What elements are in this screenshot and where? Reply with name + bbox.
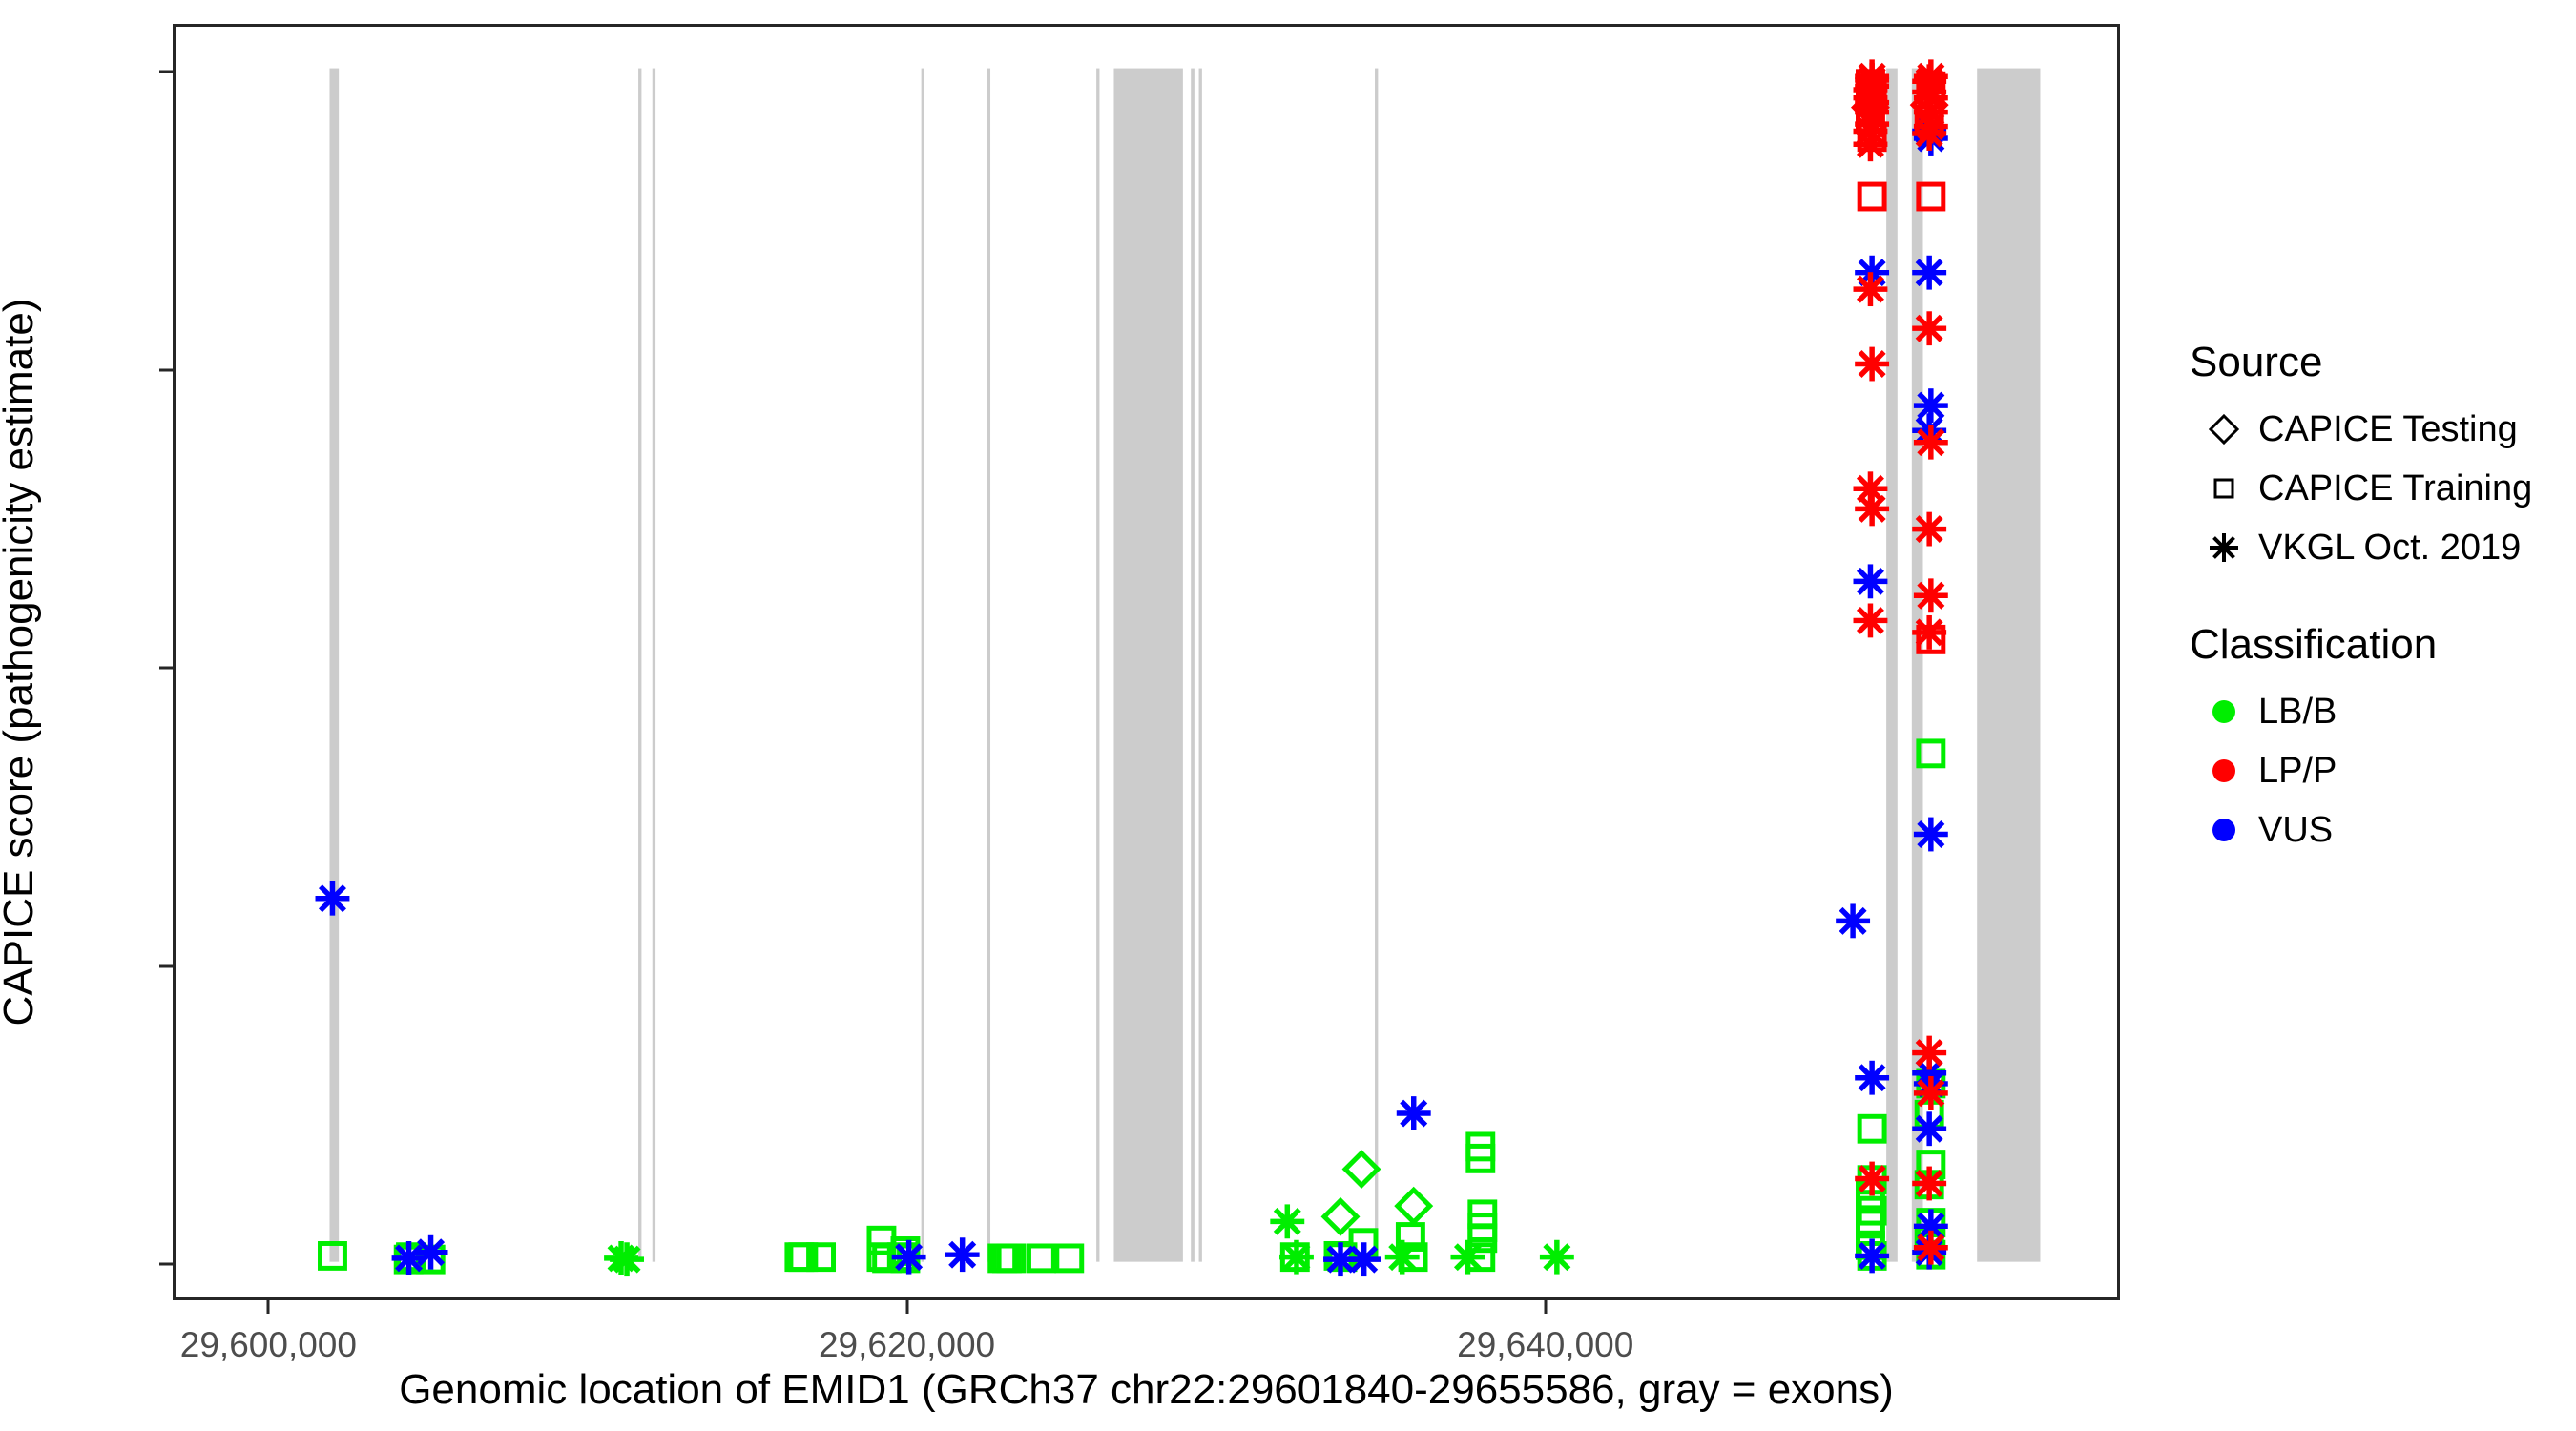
point-asterisk-icon xyxy=(414,1235,448,1270)
legend-item[interactable]: CAPICE Training xyxy=(2190,459,2562,518)
circle-icon xyxy=(2190,749,2258,793)
y-tick-mark xyxy=(159,71,173,73)
legend-title-classification: Classification xyxy=(2190,621,2562,669)
point-square-icon xyxy=(321,1243,345,1268)
y-tick-mark xyxy=(159,667,173,670)
legend-item[interactable]: CAPICE Testing xyxy=(2190,400,2562,459)
legend-title-source: Source xyxy=(2190,339,2562,386)
point-square-icon xyxy=(1919,184,1943,209)
legend-item-label: LP/P xyxy=(2258,751,2337,792)
legend-item[interactable]: LB/B xyxy=(2190,682,2562,741)
point-asterisk-icon xyxy=(1912,1036,1946,1070)
legend-item[interactable]: VUS xyxy=(2190,800,2562,860)
x-tick-label: 29,620,000 xyxy=(819,1325,995,1365)
point-asterisk-icon xyxy=(1912,256,1946,290)
point-asterisk-icon xyxy=(392,1241,426,1275)
chart-root: CAPICE score (pathogenicity estimate) 1.… xyxy=(0,0,2576,1431)
point-square-icon xyxy=(1859,184,1884,209)
y-tick-mark xyxy=(159,1263,173,1266)
y-axis-title: CAPICE score (pathogenicity estimate) xyxy=(0,0,46,1324)
point-square-icon xyxy=(1859,1116,1884,1141)
data-points xyxy=(176,27,2117,1297)
point-asterisk-icon xyxy=(1914,425,1948,460)
point-asterisk-icon xyxy=(945,1237,980,1272)
legend-item[interactable]: VKGL Oct. 2019 xyxy=(2190,518,2562,577)
y-tick-mark xyxy=(159,964,173,967)
legend-item-label: CAPICE Testing xyxy=(2258,409,2518,450)
point-asterisk-icon xyxy=(1347,1242,1381,1276)
point-asterisk-icon xyxy=(1397,1096,1431,1130)
point-asterisk-icon xyxy=(1914,578,1948,612)
point-asterisk-icon xyxy=(1855,1239,1889,1274)
point-asterisk-icon xyxy=(1914,818,1948,852)
legend-item-label: VUS xyxy=(2258,810,2333,851)
x-axis-title: Genomic location of EMID1 (GRCh37 chr22:… xyxy=(173,1366,2120,1414)
square-icon xyxy=(2190,467,2258,510)
plot-area xyxy=(176,27,2117,1297)
legend-group-classification: Classification LB/BLP/PVUS xyxy=(2190,621,2562,860)
point-asterisk-icon xyxy=(1854,564,1888,598)
y-tick-mark xyxy=(159,368,173,371)
point-square-icon xyxy=(1028,1246,1053,1271)
x-tick-label: 29,600,000 xyxy=(180,1325,357,1365)
x-tick-label: 29,640,000 xyxy=(1457,1325,1633,1365)
legend-item-label: VKGL Oct. 2019 xyxy=(2258,528,2521,569)
x-tick-mark xyxy=(267,1300,270,1314)
plot-panel xyxy=(173,24,2120,1300)
legend-item-label: CAPICE Training xyxy=(2258,468,2532,509)
legend-item-label: LB/B xyxy=(2258,692,2337,733)
point-asterisk-icon xyxy=(1270,1204,1304,1238)
point-square-icon xyxy=(1057,1246,1082,1271)
asterisk-icon xyxy=(2190,526,2258,570)
point-asterisk-icon xyxy=(1912,512,1946,547)
point-asterisk-icon xyxy=(1279,1240,1314,1275)
point-square-icon xyxy=(1919,741,1943,766)
legend: Source CAPICE TestingCAPICE TrainingVKGL… xyxy=(2190,339,2562,903)
point-asterisk-icon xyxy=(892,1240,926,1275)
point-asterisk-icon xyxy=(1855,1061,1889,1095)
point-asterisk-icon xyxy=(1912,311,1946,345)
legend-item[interactable]: LP/P xyxy=(2190,741,2562,800)
legend-items-classification: LB/BLP/PVUS xyxy=(2190,682,2562,860)
point-diamond-icon xyxy=(1324,1200,1357,1233)
diamond-icon xyxy=(2190,407,2258,451)
legend-group-source: Source CAPICE TestingCAPICE TrainingVKGL… xyxy=(2190,339,2562,577)
circle-icon xyxy=(2190,808,2258,852)
circle-icon xyxy=(2190,690,2258,734)
point-asterisk-icon xyxy=(1912,116,1946,151)
point-asterisk-icon xyxy=(610,1242,644,1276)
point-asterisk-icon xyxy=(316,881,350,916)
x-tick-mark xyxy=(905,1300,908,1314)
point-asterisk-icon xyxy=(1540,1240,1574,1275)
point-diamond-icon xyxy=(1345,1153,1378,1186)
legend-items-source: CAPICE TestingCAPICE TrainingVKGL Oct. 2… xyxy=(2190,400,2562,577)
point-diamond-icon xyxy=(1398,1190,1430,1222)
point-asterisk-icon xyxy=(1855,347,1889,382)
x-tick-mark xyxy=(1544,1300,1547,1314)
point-asterisk-icon xyxy=(1854,604,1888,638)
point-asterisk-icon xyxy=(1836,903,1870,938)
point-asterisk-icon xyxy=(1854,272,1888,306)
